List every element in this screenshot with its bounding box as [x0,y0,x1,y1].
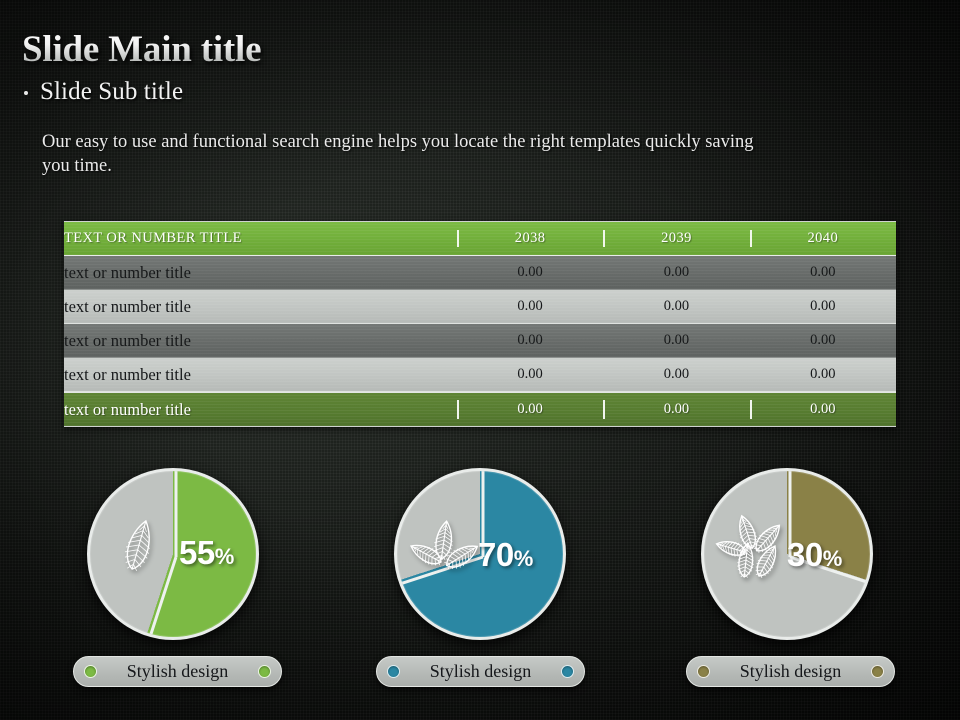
pie-chart-block-1: 55% [87,468,259,640]
table-body: text or number title0.000.000.00text or … [64,256,896,427]
table-cell-value: 0.00 [750,358,896,392]
table-cell-value: 0.00 [457,392,603,427]
table-row: text or number title0.000.000.00 [64,324,896,358]
chart-caption-label-3: Stylish design [710,661,871,682]
data-table: TEXT OR NUMBER TITLE 2038 2039 2040 text… [64,221,896,427]
table-header-row: TEXT OR NUMBER TITLE 2038 2039 2040 [64,221,896,256]
table-cell-value: 0.00 [750,324,896,358]
table-cell-value: 0.00 [603,290,749,324]
table-header-year-2040: 2040 [750,221,896,256]
chart-caption-1[interactable]: Stylish design [73,656,282,687]
table-cell-value: 0.00 [750,392,896,427]
table-header-label: TEXT OR NUMBER TITLE [64,221,457,256]
slide-subtitle: Slide Sub title [24,78,183,106]
table-cell-label: text or number title [64,324,457,358]
table-total-row: text or number title0.000.000.00 [64,392,896,427]
bullet-dot-icon-left [387,665,400,678]
table-cell-value: 0.00 [750,290,896,324]
pie-percent-symbol: % [215,544,234,569]
pie-percent-label-3: 30% [787,538,842,571]
pie-chart-block-3: 30% [701,468,873,640]
table-row: text or number title0.000.000.00 [64,256,896,290]
pie-chart-2[interactable]: 70% [394,468,566,640]
pie-percent-symbol: % [823,546,842,571]
table-cell-value: 0.00 [603,256,749,290]
body-paragraph: Our easy to use and functional search en… [42,130,772,179]
chart-caption-2[interactable]: Stylish design [376,656,585,687]
table-cell-value: 0.00 [603,358,749,392]
table-row: text or number title0.000.000.00 [64,358,896,392]
bullet-dot-icon-left [84,665,97,678]
table-cell-value: 0.00 [750,256,896,290]
bullet-dot-icon-right [258,665,271,678]
chart-caption-3[interactable]: Stylish design [686,656,895,687]
table-cell-value: 0.00 [457,290,603,324]
page-title: Slide Main title [22,28,261,71]
chart-caption-label-2: Stylish design [400,661,561,682]
slide-subtitle-label: Slide Sub title [40,78,183,106]
pie-percent-value: 30 [787,536,823,573]
table-header-year-2039: 2039 [603,221,749,256]
table-cell-value: 0.00 [603,324,749,358]
slide-canvas: Slide Main title Slide Sub title Our eas… [0,0,960,720]
table-header-year-2038: 2038 [457,221,603,256]
table-cell-value: 0.00 [457,256,603,290]
pie-percent-label-2: 70% [478,538,533,571]
pie-chart-block-2: 70% [394,468,566,640]
pie-percent-value: 70 [478,536,514,573]
table-cell-label: text or number title [64,256,457,290]
bullet-dot-icon-right [561,665,574,678]
table-cell-value: 0.00 [457,358,603,392]
table-row: text or number title0.000.000.00 [64,290,896,324]
pie-percent-symbol: % [514,546,533,571]
bullet-icon [24,91,28,95]
table-cell-value: 0.00 [457,324,603,358]
table-cell-label: text or number title [64,358,457,392]
pie-percent-label-1: 55% [179,536,234,569]
bullet-dot-icon-left [697,665,710,678]
chart-caption-label-1: Stylish design [97,661,258,682]
table-cell-label: text or number title [64,392,457,427]
table-cell-label: text or number title [64,290,457,324]
pie-chart-3[interactable]: 30% [701,468,873,640]
pie-percent-value: 55 [179,534,215,571]
table-cell-value: 0.00 [603,392,749,427]
bullet-dot-icon-right [871,665,884,678]
pie-chart-1[interactable]: 55% [87,468,259,640]
